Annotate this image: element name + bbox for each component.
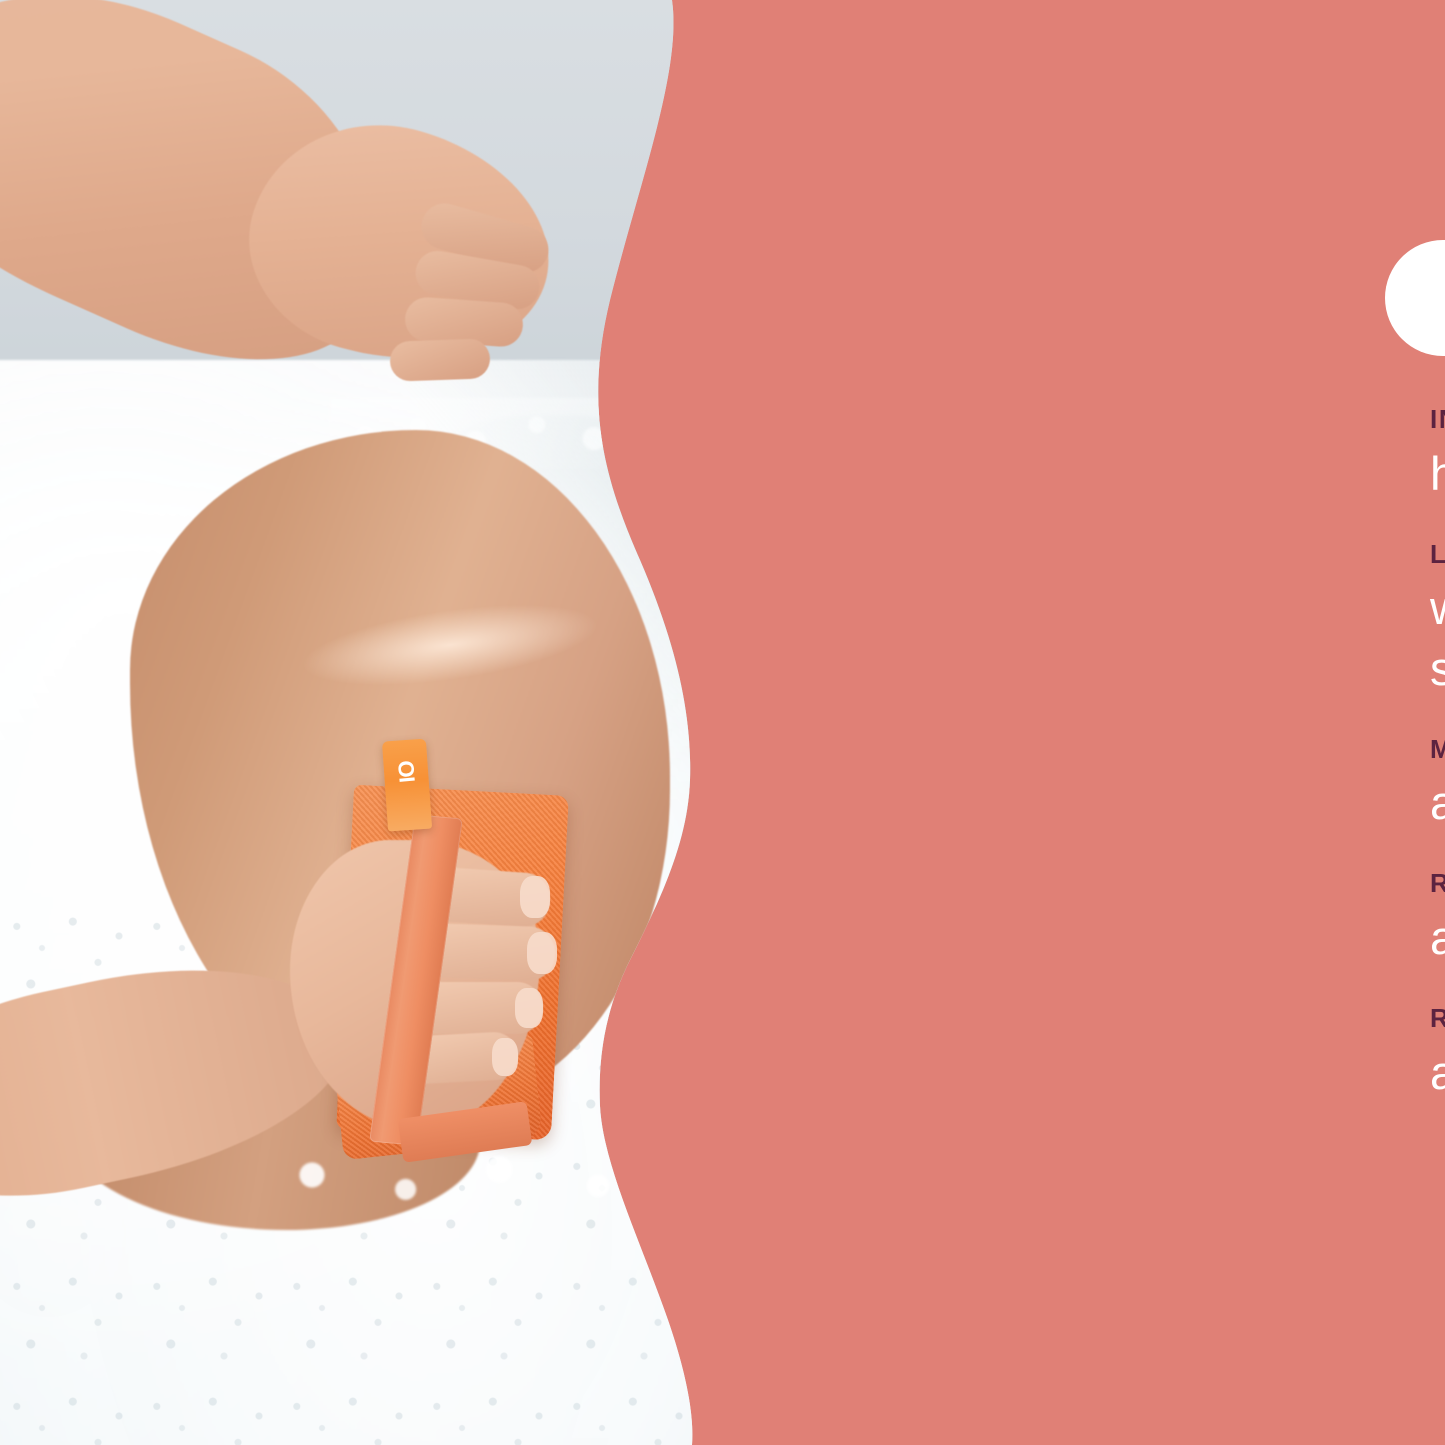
- step-label-massage: MASSAGE: [1430, 735, 1445, 764]
- step-text-massage: and cleanse all over: [1430, 773, 1445, 833]
- step-text-replace: after about 30 days of use: [1430, 1043, 1445, 1103]
- upper-hand-finger: [389, 338, 490, 381]
- fingernail: [515, 988, 543, 1028]
- fingernail: [520, 876, 550, 918]
- step-label-replace: REPLACE: [1430, 1004, 1445, 1033]
- step-label-rinse: RINSE: [1430, 869, 1445, 898]
- step-label-insert: INSERT: [1430, 405, 1445, 434]
- fingernail: [492, 1038, 518, 1076]
- lifestyle-photo-panel: IO: [0, 0, 760, 1445]
- step-text-insert: hand into strap: [1430, 444, 1445, 504]
- step-replace: REPLACE after about 30 days of use: [1430, 1004, 1445, 1103]
- step-text-lather: with your favorite soap or scrub: [1430, 578, 1445, 698]
- instructions-panel: For best results INSERT hand into strap …: [685, 0, 1445, 1445]
- step-massage: MASSAGE and cleanse all over: [1430, 735, 1445, 834]
- step-rinse: RINSE and hang to dry: [1430, 869, 1445, 968]
- step-label-lather: LATHER: [1430, 540, 1445, 569]
- product-instructions-graphic: IO For best results INSERT hand into str…: [0, 0, 1445, 1445]
- step-text-rinse: and hang to dry: [1430, 908, 1445, 968]
- title-pill: For best results: [1385, 240, 1445, 356]
- steps-list: INSERT hand into strap LATHER with your …: [1430, 405, 1445, 1103]
- step-lather: LATHER with your favorite soap or scrub: [1430, 540, 1445, 699]
- step-insert: INSERT hand into strap: [1430, 405, 1445, 504]
- brand-logo-icon: IO: [391, 756, 424, 789]
- fingernail: [527, 932, 557, 974]
